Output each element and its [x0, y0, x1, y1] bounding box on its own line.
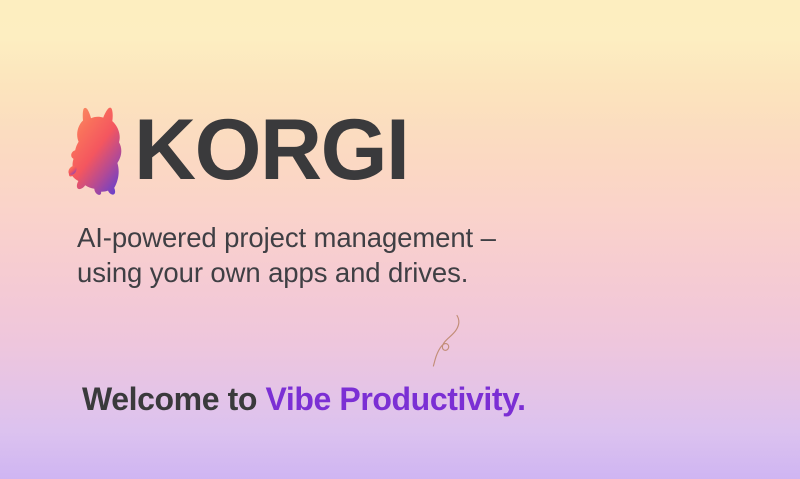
welcome-prefix: Welcome to: [82, 381, 266, 417]
brand-wordmark: KORGI: [134, 113, 408, 189]
tagline-line-1: AI-powered project management –: [77, 220, 496, 255]
welcome-headline: Welcome to Vibe Productivity.: [82, 382, 526, 417]
corgi-silhouette-icon: [68, 106, 126, 196]
curly-flourish-icon: [424, 312, 480, 368]
hero-tagline: AI-powered project management – using yo…: [77, 220, 496, 291]
hero-splash-screen: KORGI AI-powered project management – us…: [0, 0, 800, 479]
tagline-line-2: using your own apps and drives.: [77, 255, 496, 290]
welcome-accent: Vibe Productivity.: [266, 381, 526, 417]
brand-lockup: KORGI: [68, 106, 408, 196]
